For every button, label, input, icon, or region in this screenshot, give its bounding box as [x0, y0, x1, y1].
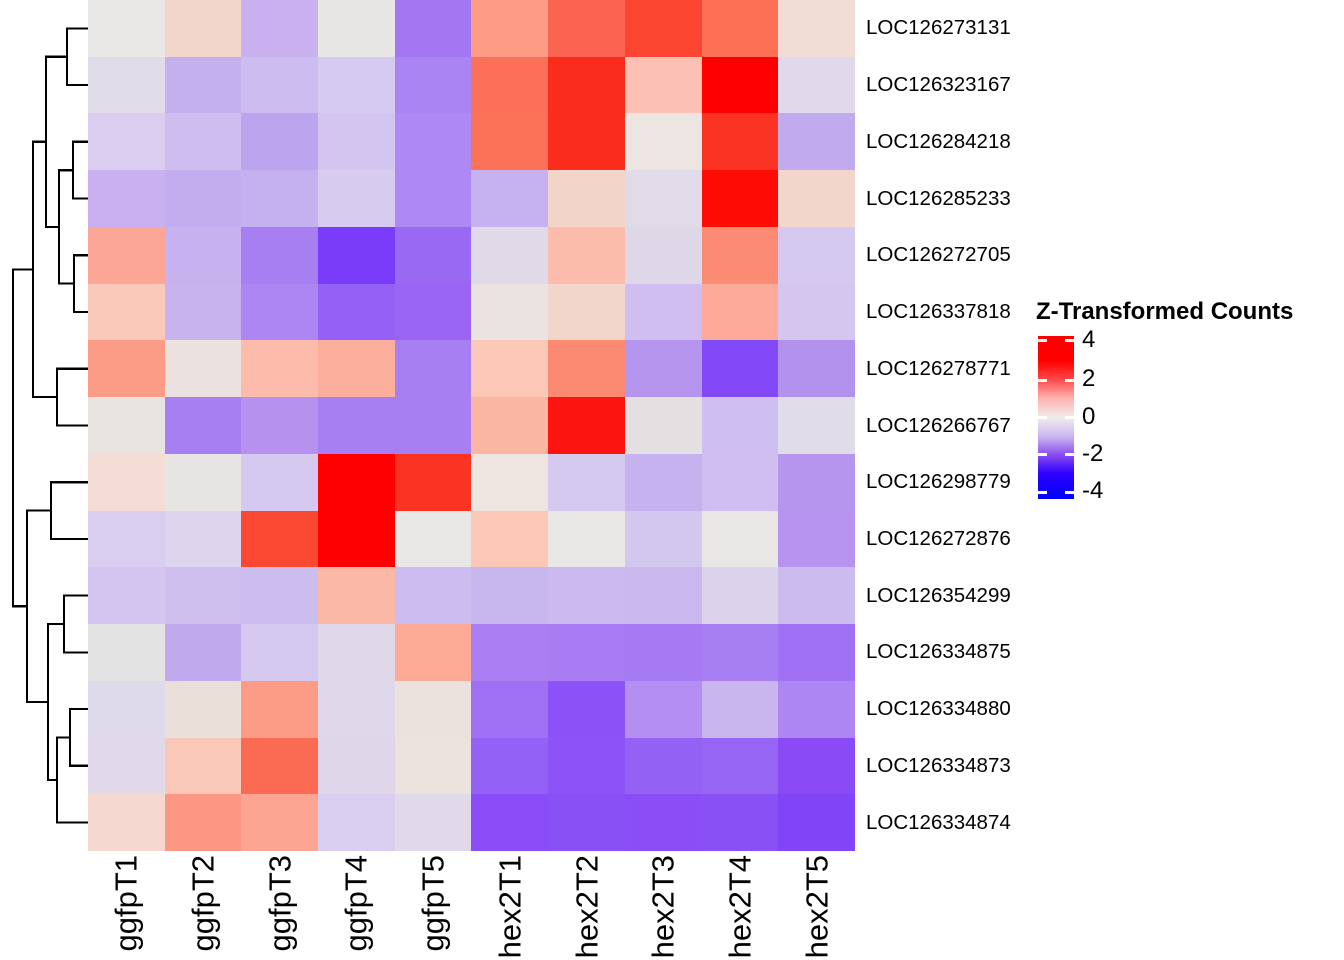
heatmap-cell [395, 113, 472, 170]
heatmap-cell [625, 227, 702, 284]
heatmap-cell [778, 794, 855, 851]
heatmap-cell [395, 794, 472, 851]
heatmap-cell [88, 397, 165, 454]
column-label: ggfpT4 [318, 851, 395, 960]
heatmap-cell [548, 340, 625, 397]
legend-tick-mark [1038, 339, 1047, 342]
column-labels: ggfpT1ggfpT2ggfpT3ggfpT4ggfpT5hex2T1hex2… [88, 851, 855, 960]
legend-tick-mark [1038, 416, 1047, 419]
column-label: hex2T2 [548, 851, 625, 960]
heatmap-cell [241, 738, 318, 795]
heatmap-cell [702, 227, 779, 284]
heatmap-cell [625, 794, 702, 851]
heatmap-cell [548, 0, 625, 57]
heatmap-cell [548, 397, 625, 454]
heatmap-cell [318, 397, 395, 454]
column-label-text: hex2T5 [801, 855, 832, 958]
heatmap-cell [395, 397, 472, 454]
column-label: hex2T3 [625, 851, 702, 960]
heatmap-cell [548, 794, 625, 851]
column-label-text: ggfpT5 [418, 855, 449, 952]
heatmap-cell [778, 511, 855, 568]
row-label: LOC126334875 [866, 642, 1011, 663]
heatmap-cell [165, 227, 242, 284]
heatmap-cell [471, 57, 548, 114]
heatmap-cell [548, 454, 625, 511]
heatmap-cell [318, 454, 395, 511]
row-label: LOC126298779 [866, 472, 1011, 493]
heatmap-cell [471, 227, 548, 284]
heatmap-cell [395, 738, 472, 795]
column-label-text: hex2T3 [648, 855, 679, 958]
heatmap-cell [165, 284, 242, 341]
heatmap-cell [395, 511, 472, 568]
heatmap-cell [471, 454, 548, 511]
heatmap-cell [165, 511, 242, 568]
heatmap-cell [88, 511, 165, 568]
legend-colorbar [1038, 336, 1074, 499]
heatmap-cell [625, 738, 702, 795]
heatmap-cell [165, 170, 242, 227]
heatmap-figure: LOC126273131LOC126323167LOC126284218LOC1… [0, 0, 1344, 960]
heatmap-cell [88, 681, 165, 738]
heatmap-cell [778, 624, 855, 681]
row-label: LOC126334874 [866, 813, 1011, 834]
legend: Z-Transformed Counts 420-2-4 [1032, 298, 1344, 513]
heatmap-cell [471, 397, 548, 454]
heatmap-cell [241, 397, 318, 454]
heatmap-cell [471, 284, 548, 341]
heatmap-cell [702, 511, 779, 568]
heatmap-cell [702, 397, 779, 454]
column-label-text: hex2T4 [724, 855, 755, 958]
column-label-text: ggfpT1 [111, 855, 142, 952]
legend-tick-mark [1065, 453, 1074, 456]
heatmap-cell [165, 454, 242, 511]
heatmap-cell [88, 113, 165, 170]
row-label: LOC126354299 [866, 586, 1011, 607]
heatmap-cell [702, 113, 779, 170]
heatmap-cell [778, 340, 855, 397]
heatmap-cell [778, 738, 855, 795]
heatmap-cell [702, 57, 779, 114]
heatmap-cell [241, 57, 318, 114]
heatmap-cell [548, 227, 625, 284]
row-label: LOC126272876 [866, 529, 1011, 550]
heatmap-cell [702, 681, 779, 738]
heatmap-cell [625, 340, 702, 397]
heatmap-cell [625, 681, 702, 738]
heatmap-cell [318, 57, 395, 114]
heatmap-cell [395, 170, 472, 227]
heatmap-cell [471, 567, 548, 624]
heatmap-cell [548, 681, 625, 738]
heatmap-cell [702, 738, 779, 795]
heatmap-cell [318, 624, 395, 681]
heatmap-cell [471, 340, 548, 397]
heatmap-cell [548, 511, 625, 568]
heatmap-cell [241, 794, 318, 851]
legend-tick-label: -4 [1082, 479, 1103, 503]
heatmap-cell [778, 113, 855, 170]
heatmap-cell [241, 284, 318, 341]
heatmap-cell [88, 738, 165, 795]
heatmap-cell [702, 454, 779, 511]
heatmap-cell [625, 511, 702, 568]
heatmap-cell [548, 113, 625, 170]
heatmap-cell [778, 227, 855, 284]
heatmap-cell [241, 113, 318, 170]
heatmap-cell [625, 284, 702, 341]
heatmap-cell [241, 227, 318, 284]
heatmap-cell [625, 57, 702, 114]
heatmap-cell [318, 113, 395, 170]
heatmap-cell [625, 0, 702, 57]
heatmap-cell [471, 738, 548, 795]
row-dendrogram [0, 0, 88, 852]
column-label: hex2T5 [778, 851, 855, 960]
column-label-text: ggfpT4 [341, 855, 372, 952]
row-label: LOC126266767 [866, 416, 1011, 437]
heatmap-cell [471, 113, 548, 170]
heatmap-cell [318, 284, 395, 341]
heatmap-cell [471, 511, 548, 568]
heatmap-cell [395, 454, 472, 511]
heatmap-cell [778, 567, 855, 624]
heatmap-cell [395, 681, 472, 738]
legend-tick-mark [1065, 339, 1074, 342]
heatmap-cell [471, 170, 548, 227]
heatmap-cell [165, 113, 242, 170]
heatmap-cell [165, 624, 242, 681]
heatmap-cell [318, 511, 395, 568]
heatmap-cell [318, 170, 395, 227]
heatmap-cell [778, 170, 855, 227]
heatmap-cell [165, 738, 242, 795]
column-label: ggfpT2 [165, 851, 242, 960]
heatmap-cell [241, 170, 318, 227]
heatmap-cell [165, 567, 242, 624]
heatmap-cell [88, 284, 165, 341]
heatmap-cell [702, 0, 779, 57]
heatmap-cell [241, 681, 318, 738]
heatmap-cell [241, 0, 318, 57]
heatmap-cell [318, 681, 395, 738]
row-label: LOC126334873 [866, 756, 1011, 777]
heatmap-cell [88, 624, 165, 681]
heatmap-cell [702, 794, 779, 851]
heatmap-cell [395, 624, 472, 681]
legend-tick-mark [1065, 416, 1074, 419]
heatmap-cell [88, 57, 165, 114]
heatmap-cell [395, 284, 472, 341]
heatmap-cell [625, 397, 702, 454]
heatmap-cell [548, 170, 625, 227]
heatmap-cell [241, 624, 318, 681]
heatmap-cell [471, 794, 548, 851]
heatmap-cell [395, 57, 472, 114]
heatmap-cell [778, 681, 855, 738]
row-label: LOC126278771 [866, 359, 1011, 380]
heatmap-cell [778, 0, 855, 57]
heatmap-cell [88, 227, 165, 284]
heatmap-cell [778, 284, 855, 341]
heatmap-cell [165, 681, 242, 738]
heatmap-cell [241, 567, 318, 624]
column-label: ggfpT1 [88, 851, 165, 960]
dendrogram-svg [0, 0, 88, 852]
heatmap-cell [548, 738, 625, 795]
row-label: LOC126285233 [866, 189, 1011, 210]
row-label: LOC126323167 [866, 75, 1011, 96]
heatmap-cell [702, 284, 779, 341]
heatmap-cell [88, 340, 165, 397]
heatmap-cell [471, 0, 548, 57]
heatmap-cell [702, 567, 779, 624]
row-label: LOC126284218 [866, 132, 1011, 153]
heatmap-cell [471, 624, 548, 681]
legend-tick-mark [1038, 453, 1047, 456]
column-label: ggfpT5 [395, 851, 472, 960]
legend-tick-label: -2 [1082, 442, 1103, 466]
heatmap-cell [625, 454, 702, 511]
heatmap-cell [241, 340, 318, 397]
heatmap-cell [318, 794, 395, 851]
heatmap-cell [702, 170, 779, 227]
heatmap-cell [548, 57, 625, 114]
legend-tick-mark [1038, 491, 1047, 494]
heatmap-cell [165, 340, 242, 397]
heatmap-cell [625, 113, 702, 170]
heatmap-cell [625, 170, 702, 227]
legend-tick-mark [1065, 379, 1074, 382]
heatmap-cell [778, 454, 855, 511]
column-label-text: hex2T1 [494, 855, 525, 958]
heatmap-cell [778, 397, 855, 454]
heatmap-cell [471, 681, 548, 738]
heatmap-cell [88, 170, 165, 227]
legend-tick-label: 2 [1082, 367, 1095, 391]
column-label-text: ggfpT2 [188, 855, 219, 952]
legend-tick-mark [1065, 491, 1074, 494]
heatmap-cell [548, 624, 625, 681]
column-label-text: hex2T2 [571, 855, 602, 958]
heatmap-cell [88, 454, 165, 511]
heatmap-cell [395, 0, 472, 57]
heatmap-grid [88, 0, 855, 851]
row-label: LOC126337818 [866, 302, 1011, 323]
column-label: ggfpT3 [241, 851, 318, 960]
heatmap-cell [702, 624, 779, 681]
legend-tick-mark [1038, 379, 1047, 382]
heatmap-cell [702, 340, 779, 397]
heatmap-cell [625, 567, 702, 624]
heatmap-cell [165, 397, 242, 454]
heatmap-cell [165, 57, 242, 114]
heatmap-cell [395, 227, 472, 284]
legend-tick-label: 0 [1082, 405, 1095, 429]
heatmap-cell [395, 340, 472, 397]
row-label: LOC126272705 [866, 245, 1011, 266]
heatmap-cell [318, 227, 395, 284]
legend-tick-label: 4 [1082, 328, 1095, 352]
legend-title: Z-Transformed Counts [1036, 298, 1293, 326]
heatmap-cell [548, 284, 625, 341]
heatmap-cell [318, 567, 395, 624]
heatmap-cell [395, 567, 472, 624]
heatmap-cell [625, 624, 702, 681]
heatmap-cell [318, 340, 395, 397]
heatmap-cell [318, 738, 395, 795]
heatmap-cell [88, 567, 165, 624]
heatmap-cell [318, 0, 395, 57]
heatmap-cell [165, 794, 242, 851]
heatmap-cell [241, 454, 318, 511]
column-label: hex2T4 [702, 851, 779, 960]
heatmap-cell [778, 57, 855, 114]
row-label: LOC126273131 [866, 18, 1011, 39]
column-label-text: ggfpT3 [264, 855, 295, 952]
heatmap-cell [88, 794, 165, 851]
heatmap-cell [165, 0, 242, 57]
row-label: LOC126334880 [866, 699, 1011, 720]
heatmap-cell [241, 511, 318, 568]
heatmap-cell [88, 0, 165, 57]
column-label: hex2T1 [472, 851, 549, 960]
heatmap-cell [548, 567, 625, 624]
